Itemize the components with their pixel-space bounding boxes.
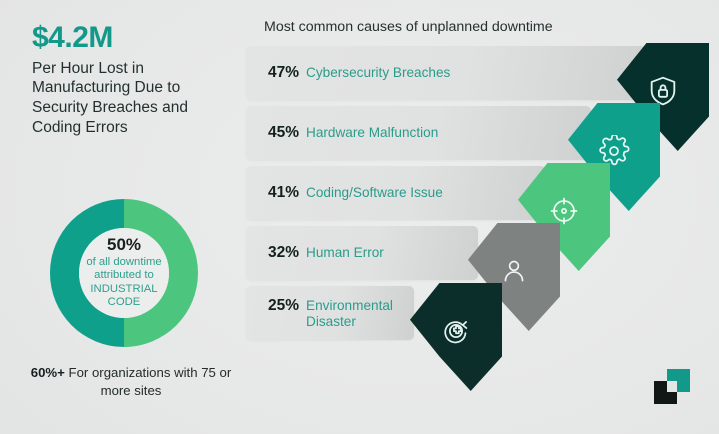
list-item-label: Human Error [306, 245, 384, 260]
footnote-emphasis: 60%+ [31, 365, 65, 380]
infographic-canvas: $4.2M Per Hour Lost in Manufacturing Due… [0, 0, 719, 434]
list-item-value: 25% [268, 297, 299, 315]
logo-square-cutout [667, 381, 677, 392]
list-item-text: 47% Cybersecurity Breaches [246, 64, 450, 82]
shield-lock-icon [646, 74, 680, 108]
list-item[interactable]: 47% Cybersecurity Breaches [246, 46, 646, 100]
list-item-value: 41% [268, 184, 299, 202]
footnote: 60%+ For organizations with 75 or more s… [26, 364, 236, 399]
brand-logo [650, 365, 694, 409]
list-item-value: 32% [268, 244, 299, 262]
person-icon [498, 255, 530, 287]
list-item[interactable]: 45% Hardware Malfunction [246, 106, 591, 160]
donut-chart: 50% of all downtime attributed to INDUST… [29, 199, 219, 347]
list-item-label: Environmental Disaster [306, 298, 414, 329]
list-item[interactable]: 41% Coding/Software Issue [246, 166, 546, 220]
hero-block: $4.2M Per Hour Lost in Manufacturing Due… [32, 22, 237, 137]
list-item-label: Hardware Malfunction [306, 125, 438, 140]
list-item-text: 45% Hardware Malfunction [246, 124, 438, 142]
list-item-label: Coding/Software Issue [306, 185, 443, 200]
footnote-text: For organizations with 75 or more sites [65, 365, 231, 398]
list-item[interactable]: 32% Human Error [246, 226, 478, 280]
list-item-value: 45% [268, 124, 299, 142]
panel-title: Most common causes of unplanned downtime [264, 19, 553, 35]
list-item-label: Cybersecurity Breaches [306, 65, 450, 80]
hero-figure: $4.2M [32, 22, 237, 54]
recycle-icon [440, 315, 472, 347]
list-item[interactable]: 25% Environmental Disaster [246, 286, 414, 340]
list-item-value: 47% [268, 64, 299, 82]
list-item-text: 25% Environmental Disaster [246, 297, 414, 329]
hero-subtitle: Per Hour Lost in Manufacturing Due to Se… [32, 59, 237, 138]
list-item-text: 41% Coding/Software Issue [246, 184, 443, 202]
list-item-text: 32% Human Error [246, 244, 384, 262]
crosshair-icon [548, 195, 580, 227]
gear-icon [598, 135, 630, 167]
